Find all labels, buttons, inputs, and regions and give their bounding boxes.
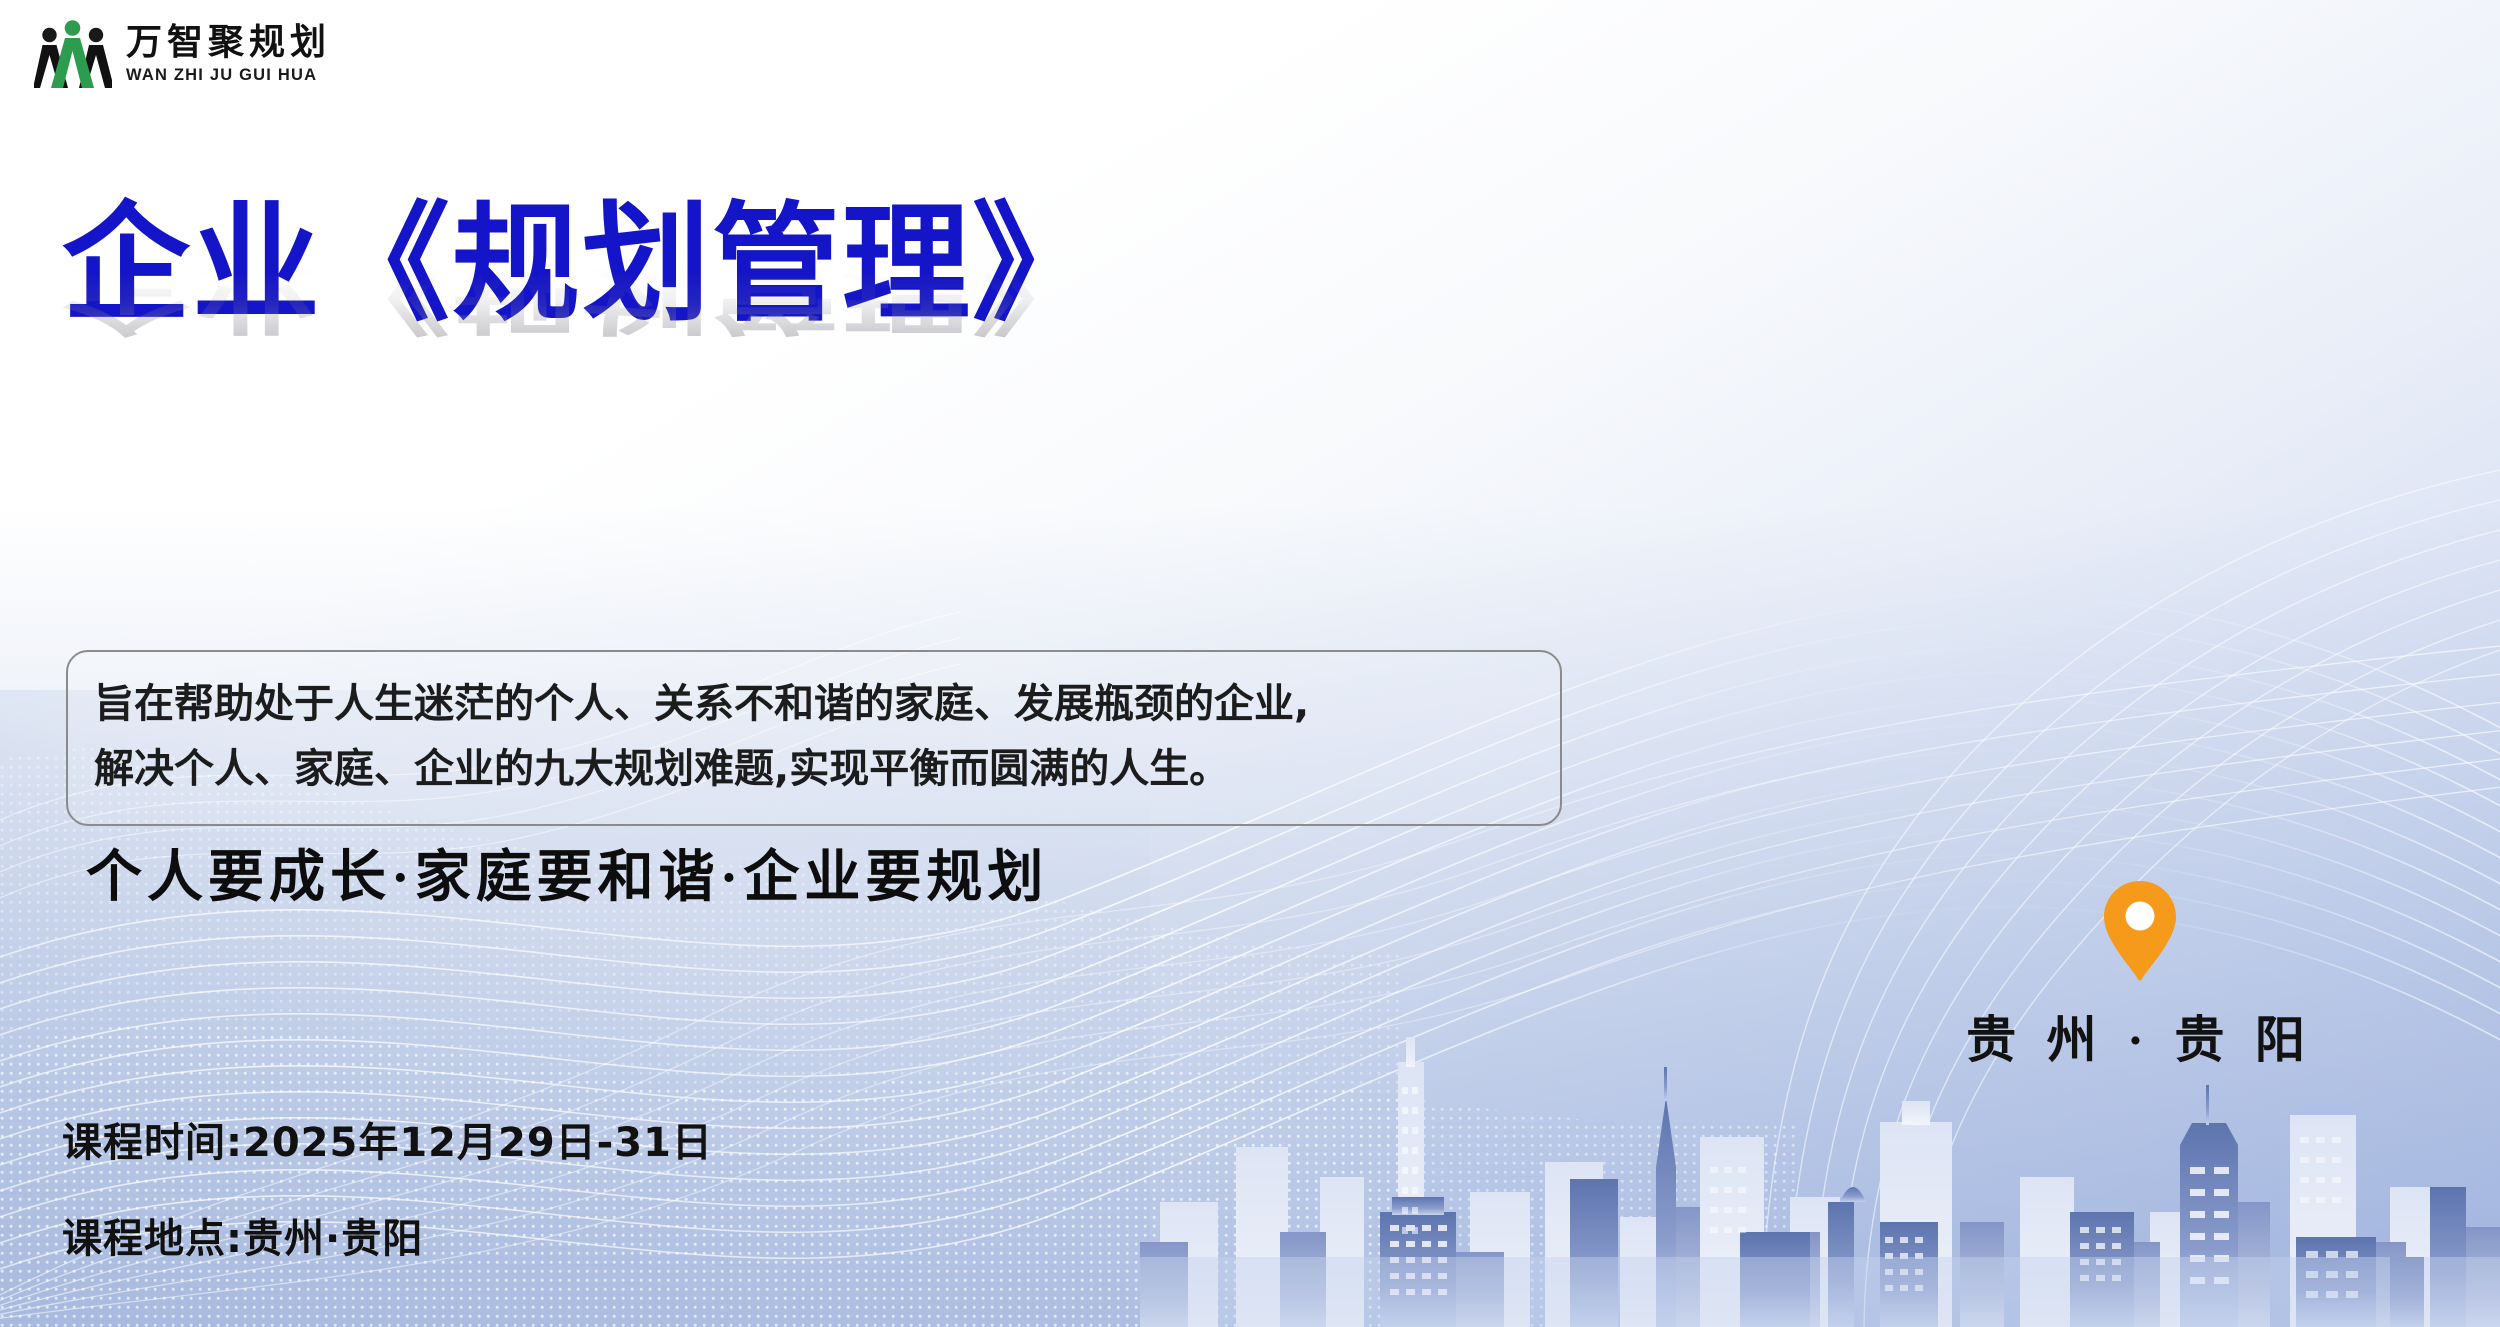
course-place: 课程地点:贵州·贵阳 — [62, 1206, 713, 1264]
location-group: 贵 州 · 贵 阳 — [1955, 878, 2325, 1072]
brand-text: 万智聚规划 WAN ZHI JU GUI HUA — [126, 24, 331, 84]
slogan-text: 个人要成长·家庭要和谐·企业要规划 — [86, 832, 1048, 913]
map-pin-icon — [2099, 878, 2181, 984]
poster-canvas: 万智聚规划 WAN ZHI JU GUI HUA 企业《规划管理》 企业《规划管… — [0, 0, 2500, 1327]
brand-name-cn: 万智聚规划 — [126, 24, 331, 60]
brand-logo[interactable]: 万智聚规划 WAN ZHI JU GUI HUA — [34, 18, 331, 90]
city-skyline-illustration — [1140, 1027, 2500, 1327]
course-info-group: 课程时间:2025年12月29日-31日 课程地点:贵州·贵阳 — [62, 1110, 713, 1264]
description-line-1: 旨在帮助处于人生迷茫的个人、关系不和谐的家庭、发展瓶颈的企业, — [94, 672, 1534, 737]
description-line-2: 解决个人、家庭、企业的九大规划难题,实现平衡而圆满的人生。 — [94, 737, 1534, 802]
page-title: 企业《规划管理》 — [62, 196, 1102, 334]
description-box: 旨在帮助处于人生迷茫的个人、关系不和谐的家庭、发展瓶颈的企业, 解决个人、家庭、… — [66, 650, 1562, 826]
brand-name-pinyin: WAN ZHI JU GUI HUA — [126, 67, 331, 84]
three-people-logo-icon — [34, 18, 112, 90]
title-group: 企业《规划管理》 企业《规划管理》 — [62, 196, 1102, 476]
location-label: 贵 州 · 贵 阳 — [1955, 1000, 2325, 1072]
course-time: 课程时间:2025年12月29日-31日 — [62, 1110, 713, 1168]
